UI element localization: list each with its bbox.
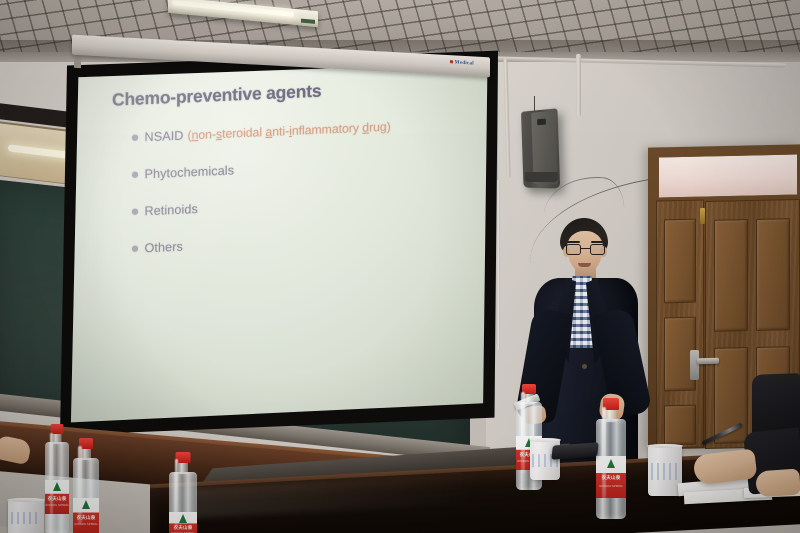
water-bottle[interactable]: 农夫山泉 NONGFU SPRING xyxy=(595,398,627,516)
glasses-lens-right xyxy=(590,244,605,255)
list-item: Retinoids xyxy=(132,194,391,219)
bullet-expansion: (non-steroidal anti-inflammatory drug) xyxy=(188,120,391,143)
wall-speaker xyxy=(521,108,560,188)
projection-screen-surface: Chemo-preventive agents NSAID (non-stero… xyxy=(60,46,498,436)
bullet-dot-icon xyxy=(132,135,138,141)
bullet-dot-icon xyxy=(132,172,138,178)
list-item: Phytochemicals xyxy=(132,157,391,182)
slide-bullet-list: NSAID (non-steroidal anti-inflammatory d… xyxy=(132,120,391,279)
glasses-icon xyxy=(566,244,605,255)
speaker-bracket xyxy=(524,172,558,182)
attendee-hand-secondary xyxy=(755,468,800,497)
water-bottle[interactable]: 农夫山泉 NONGFU SPRING xyxy=(44,424,70,533)
bottle-brand-cn: 农夫山泉 xyxy=(73,515,99,521)
door-escutcheon xyxy=(690,350,699,380)
light-endcap xyxy=(301,19,315,24)
pine-tree-logo-icon xyxy=(607,459,615,468)
cup-decoration xyxy=(11,512,41,524)
brand-dot-icon xyxy=(450,60,453,63)
paper-cup[interactable] xyxy=(648,446,682,496)
door-panel xyxy=(664,219,696,304)
door-transom-window xyxy=(658,154,798,199)
pine-tree-logo-icon xyxy=(82,500,90,509)
bottle-brand-en: NONGFU SPRING xyxy=(596,485,626,488)
door-panel xyxy=(664,405,696,446)
bullet-label: Retinoids xyxy=(145,202,198,218)
door-handle[interactable] xyxy=(697,358,719,364)
glasses-lens-left xyxy=(566,244,581,255)
pine-tree-logo-icon xyxy=(179,514,187,523)
pine-tree-logo-icon xyxy=(53,482,61,491)
bullet-dot-icon xyxy=(132,246,138,252)
jacket-button xyxy=(582,364,587,369)
bottle-brand-cn: 农夫山泉 xyxy=(596,475,626,481)
speaker-driver xyxy=(537,118,546,125)
presenter-eyebrow-left xyxy=(567,241,580,243)
screen-brand-label: Medical xyxy=(450,60,474,66)
bottle-brand-cn: 农夫山泉 xyxy=(169,525,197,531)
paper-cup[interactable] xyxy=(8,500,44,533)
water-bottle[interactable]: 农夫山泉 NONGFU SPRING xyxy=(168,452,198,533)
wall-cable xyxy=(497,180,500,350)
water-bottle[interactable]: 农夫山泉 NONGFU SPRING xyxy=(72,438,100,533)
door-leaf-left[interactable] xyxy=(656,199,704,448)
lecture-hall-photo: Chemo-preventive agents NSAID (non-stero… xyxy=(0,0,800,533)
bottle-brand-en: NONGFU SPRING xyxy=(45,504,69,507)
glasses-bridge xyxy=(581,248,590,249)
list-item: NSAID (non-steroidal anti-inflammatory d… xyxy=(132,120,391,145)
bullet-dot-icon xyxy=(132,209,138,215)
list-item: Others xyxy=(132,231,391,256)
slide: Chemo-preventive agents NSAID (non-stero… xyxy=(60,46,498,436)
bullet-label: NSAID xyxy=(145,129,184,145)
bottle-brand-cn: 农夫山泉 xyxy=(45,496,69,502)
presenter-mouth xyxy=(578,263,591,267)
wall-conduit-vertical-3 xyxy=(576,54,581,116)
door-panel xyxy=(714,219,748,332)
presenter-eyebrow-right xyxy=(591,241,604,243)
brand-text: Medical xyxy=(455,60,474,66)
cup-decoration xyxy=(651,463,680,480)
bullet-label: Phytochemicals xyxy=(145,163,235,181)
slide-title: Chemo-preventive agents xyxy=(112,81,321,111)
door-latch-plate xyxy=(700,208,705,224)
bottle-brand-en: NONGFU SPRING xyxy=(73,523,99,526)
door-panel xyxy=(756,218,790,331)
bullet-label: Others xyxy=(145,240,183,256)
